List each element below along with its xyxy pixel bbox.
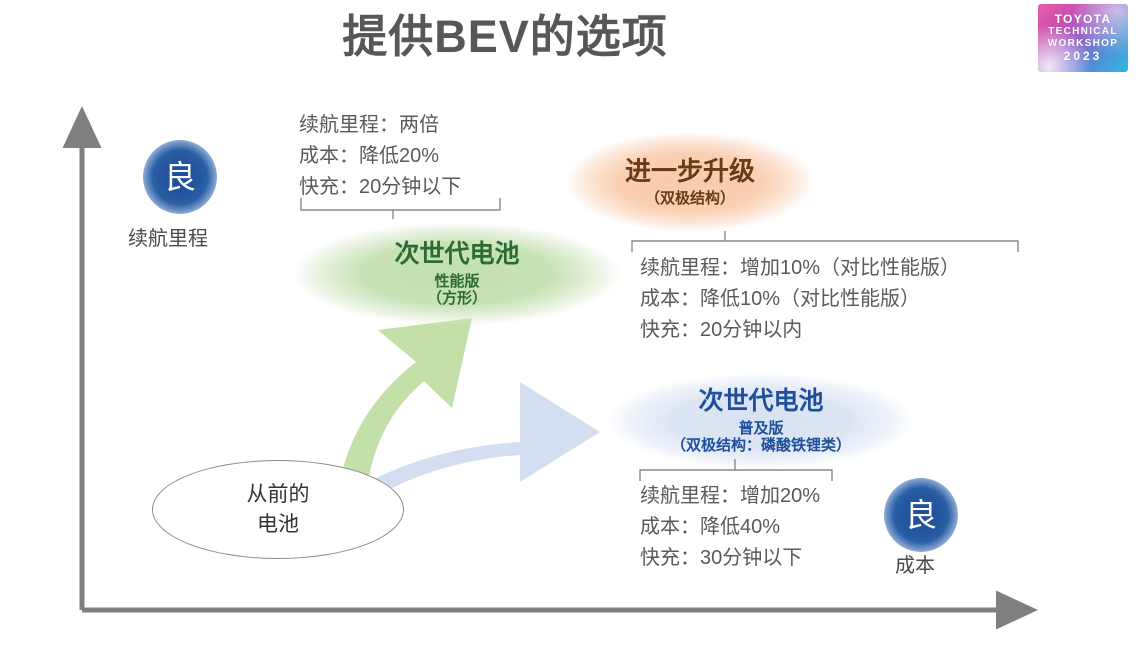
node-performance-battery[interactable]: 次世代电池 性能版 （方形） [292, 222, 622, 326]
logo-line-toyota: TOYOTA [1055, 13, 1112, 26]
y-axis-label: 续航里程 [128, 222, 208, 251]
bracket-connectors [0, 0, 1146, 645]
performance-sub2: （方形） [427, 290, 487, 308]
x-axis-label: 成本 [895, 549, 935, 578]
logo-line-workshop: WORKSHOP [1048, 39, 1118, 50]
up-arrow-green [338, 318, 472, 494]
performance-sub1: 性能版 [434, 273, 479, 291]
logo-line-year: 2023 [1064, 50, 1103, 63]
good-marker-cost: 良 [884, 478, 958, 552]
spec-performance-charge: 快充：20分钟以下 [299, 172, 461, 203]
upgrade-sub1: （双极结构） [645, 190, 735, 208]
popular-sub2: （双极结构：磷酸铁锂类） [671, 437, 851, 455]
node-further-upgrade[interactable]: 进一步升级 （双极结构） [565, 132, 815, 232]
spec-upgrade-cost: 成本：降低10%（对比性能版） [640, 284, 960, 315]
chart-axes [0, 0, 1146, 645]
spec-popular-charge: 快充：30分钟以下 [640, 543, 820, 574]
spec-block-popular: 续航里程：增加20% 成本：降低40% 快充：30分钟以下 [640, 481, 820, 574]
upgrade-title: 进一步升级 [625, 156, 755, 187]
spec-popular-cost: 成本：降低40% [640, 512, 820, 543]
page-title: 提供BEV的选项 [0, 10, 1010, 64]
slide-canvas: 提供BEV的选项 TOYOTA TECHNICAL WORKSHOP 2023 … [0, 0, 1146, 645]
popular-title: 次世代电池 [698, 387, 823, 417]
node-old-battery[interactable]: 从前的 电池 [152, 460, 404, 559]
spec-performance-cost: 成本：降低20% [299, 141, 461, 172]
old-battery-line1: 从前的 [247, 480, 310, 510]
performance-title: 次世代电池 [394, 240, 519, 270]
toyota-technical-workshop-logo: TOYOTA TECHNICAL WORKSHOP 2023 [1038, 4, 1128, 72]
transition-arrows [0, 0, 1146, 645]
spec-upgrade-range: 续航里程：增加10%（对比性能版） [640, 253, 960, 284]
spec-performance-range: 续航里程：两倍 [299, 110, 461, 141]
good-marker-range: 良 [143, 140, 217, 214]
popular-sub1: 普及版 [738, 420, 783, 438]
node-popular-battery[interactable]: 次世代电池 普及版 （双极结构：磷酸铁锂类） [606, 373, 916, 469]
old-battery-line2: 电池 [257, 510, 299, 540]
spec-block-performance: 续航里程：两倍 成本：降低20% 快充：20分钟以下 [299, 110, 461, 203]
spec-popular-range: 续航里程：增加20% [640, 481, 820, 512]
bracket-upgrade [632, 231, 1018, 252]
right-arrow-blue [352, 382, 600, 500]
spec-upgrade-charge: 快充：20分钟以内 [640, 315, 960, 346]
spec-block-upgrade: 续航里程：增加10%（对比性能版） 成本：降低10%（对比性能版） 快充：20分… [640, 253, 960, 346]
logo-line-technical: TECHNICAL [1048, 27, 1117, 38]
